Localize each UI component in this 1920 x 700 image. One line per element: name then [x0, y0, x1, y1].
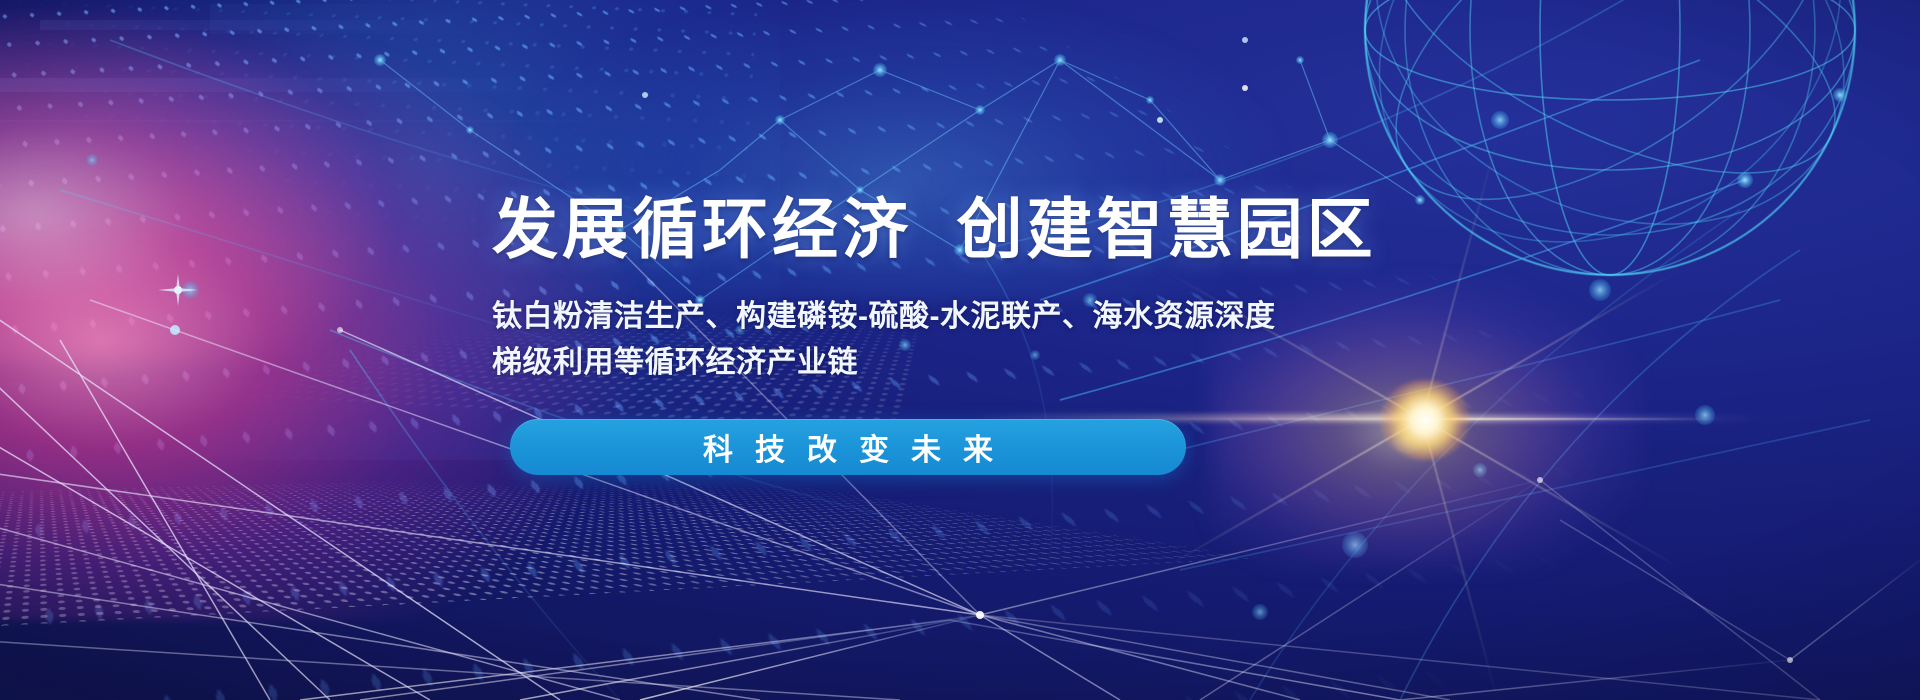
- banner-headline: 发展循环经济 创建智慧园区: [492, 196, 1377, 262]
- banner-subtitle: 钛白粉清洁生产、构建磷铵-硫酸-水泥联产、海水资源深度 梯级利用等循环经济产业链: [492, 294, 1275, 385]
- hero-banner: 发展循环经济 创建智慧园区 钛白粉清洁生产、构建磷铵-硫酸-水泥联产、海水资源深…: [0, 0, 1920, 700]
- banner-subtitle-line-2: 梯级利用等循环经济产业链: [492, 340, 1275, 386]
- banner-subtitle-line-1: 钛白粉清洁生产、构建磷铵-硫酸-水泥联产、海水资源深度: [492, 294, 1275, 340]
- cta-button-technology-changes-future[interactable]: 科技改变未来: [510, 419, 1186, 475]
- banner-content: 发展循环经济 创建智慧园区 钛白粉清洁生产、构建磷铵-硫酸-水泥联产、海水资源深…: [0, 0, 1920, 700]
